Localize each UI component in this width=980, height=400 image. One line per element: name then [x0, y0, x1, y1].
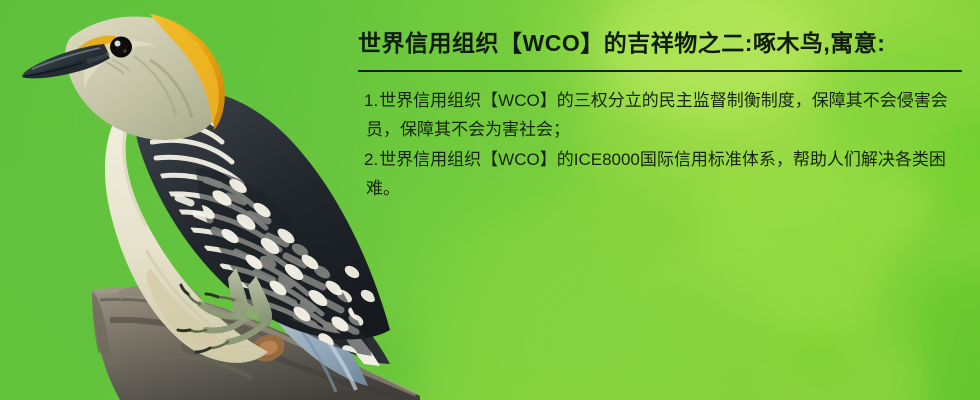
banner-title: 世界信用组织【WCO】的吉祥物之二:啄木鸟,寓意: [358, 26, 968, 60]
mascot-meaning-list: 1.世界信用组织【WCO】的三权分立的民主监督制衡制度，保障其不会侵害会员，保障… [352, 86, 968, 203]
banner-text-panel: 世界信用组织【WCO】的吉祥物之二:啄木鸟,寓意: 1.世界信用组织【WCO】的… [352, 26, 968, 204]
list-item: 2.世界信用组织【WCO】的ICE8000国际信用标准体系，帮助人们解决各类困难… [352, 145, 968, 203]
list-item-text: 世界信用组织【WCO】的三权分立的民主监督制衡制度，保障其不会侵害会员，保障其不… [366, 91, 948, 139]
title-divider [358, 70, 962, 72]
list-item: 1.世界信用组织【WCO】的三权分立的民主监督制衡制度，保障其不会侵害会员，保障… [352, 86, 968, 144]
list-item-number: 1. [364, 91, 378, 110]
list-item-text: 世界信用组织【WCO】的ICE8000国际信用标准体系，帮助人们解决各类困难。 [366, 150, 946, 198]
bird-body [22, 14, 390, 368]
list-item-number: 2. [364, 150, 378, 169]
bird-eye [110, 37, 132, 58]
credit-org-banner: 世界信用组织【WCO】的吉祥物之二:啄木鸟,寓意: 1.世界信用组织【WCO】的… [0, 0, 980, 400]
